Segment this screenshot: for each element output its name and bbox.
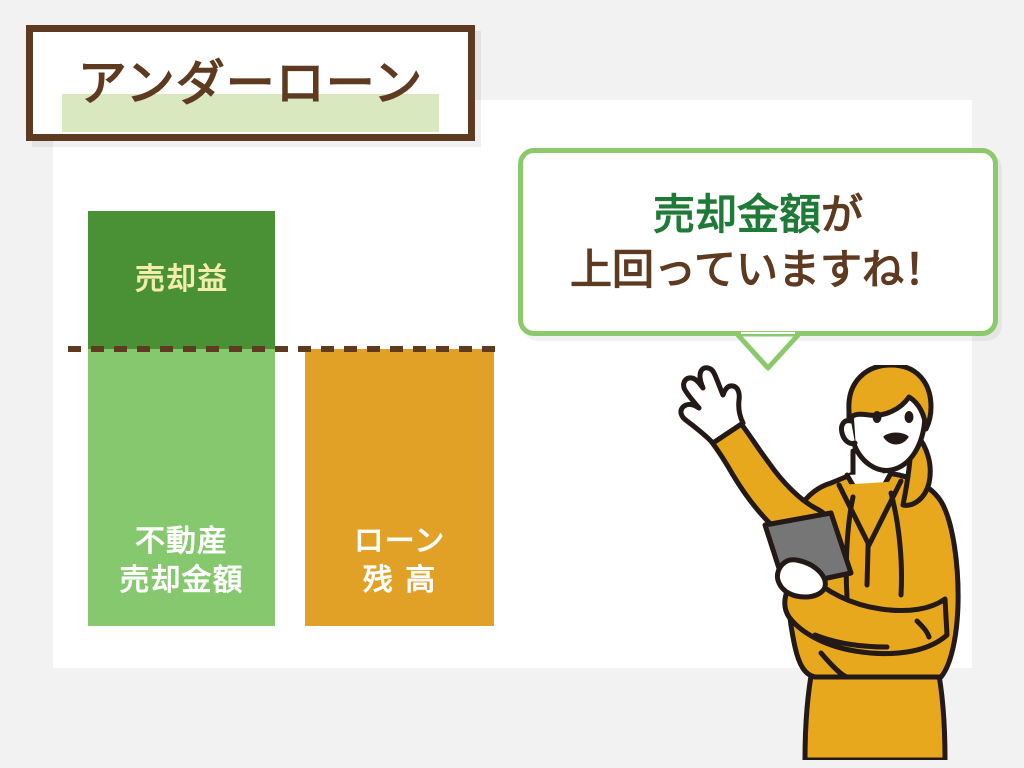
bar-label-profit: 売却益 [135, 263, 228, 298]
bar-label-loan-balance: ローン 残 高 [354, 523, 446, 626]
title-badge: アンダーローン [26, 25, 475, 141]
bar-segment-sale-amount: 不動産 売却金額 [88, 349, 275, 626]
speech-bubble-emphasis: 売却金額 [653, 190, 821, 239]
bar-segment-loan-balance: ローン 残 高 [305, 349, 494, 626]
bar-label-sale-amount: 不動産 売却金額 [120, 523, 244, 626]
businesswoman-pointing-illustration [655, 365, 1005, 760]
slide-canvas: 売却益 不動産 売却金額 ローン 残 高 アンダーローン 売却金額が 上回ってい… [0, 0, 1024, 768]
speech-bubble-particle: が [821, 190, 863, 239]
reference-dashed-line [68, 346, 504, 352]
speech-bubble-line-1: 売却金額が [653, 187, 863, 242]
speech-bubble: 売却金額が 上回っていますね！ [518, 148, 998, 336]
page-title: アンダーローン [74, 59, 428, 108]
speech-bubble-line-2: 上回っていますね！ [570, 242, 946, 297]
bar-segment-profit: 売却益 [88, 211, 275, 349]
